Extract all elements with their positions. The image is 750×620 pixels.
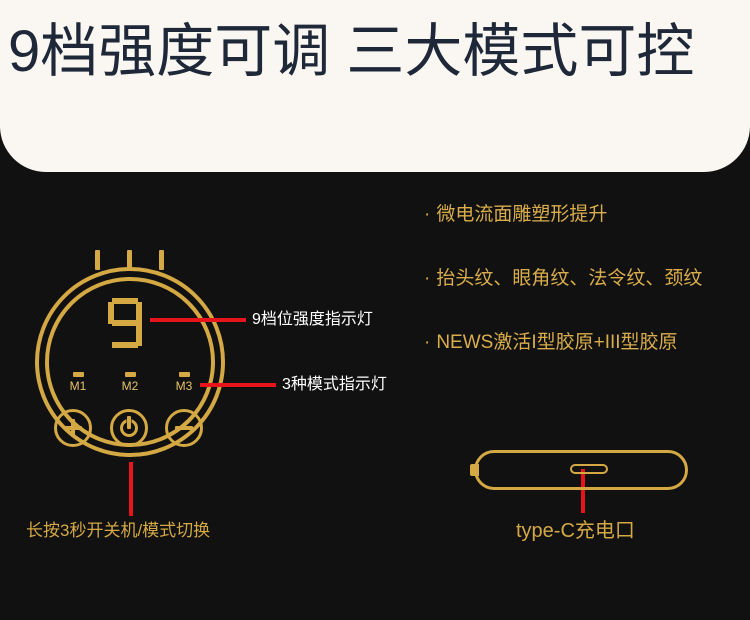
plus-button[interactable] bbox=[54, 409, 92, 447]
electrode-prong-icon bbox=[95, 250, 100, 270]
plus-icon bbox=[71, 419, 75, 437]
mode-dash-icon bbox=[125, 372, 136, 377]
segment-top bbox=[112, 298, 138, 304]
caption-typec-port: type-C充电口 bbox=[516, 520, 635, 542]
device-body-outline bbox=[474, 450, 688, 490]
page-title: 9档强度可调 三大模式可控 bbox=[8, 14, 750, 90]
mode-dash-icon bbox=[73, 372, 84, 377]
mode-indicator-m1: M1 bbox=[58, 372, 98, 393]
segment-bottom bbox=[112, 342, 138, 348]
annotation-mode-indicator: 3种模式指示灯 bbox=[282, 375, 387, 395]
minus-icon bbox=[175, 426, 193, 430]
annotation-intensity-indicator: 9档位强度指示灯 bbox=[252, 310, 373, 330]
bullet-dot-icon: · bbox=[424, 266, 430, 292]
bullet-dot-icon: · bbox=[424, 330, 430, 356]
electrode-prong-icon bbox=[159, 250, 164, 270]
bullet-text: NEWS激活I型胶原+III型胶原 bbox=[436, 330, 677, 356]
product-feature-panel: 9档强度可调 三大模式可控 M1 bbox=[0, 0, 750, 620]
caption-power-instruction: 长按3秒开关机/模式切换 bbox=[26, 520, 210, 542]
mode-label-m1: M1 bbox=[58, 380, 98, 393]
bullet-text: 微电流面雕塑形提升 bbox=[436, 202, 607, 228]
mode-indicator-row: M1 M2 M3 bbox=[58, 372, 204, 406]
list-item: · 抬头纹、眼角纹、法令纹、颈纹 bbox=[424, 266, 744, 292]
power-button[interactable] bbox=[110, 409, 148, 447]
feature-bullet-list: · 微电流面雕塑形提升 · 抬头纹、眼角纹、法令纹、颈纹 · NEWS激活I型胶… bbox=[424, 202, 744, 394]
mode-label-m3: M3 bbox=[164, 380, 204, 393]
mode-indicator-m3: M3 bbox=[164, 372, 204, 393]
mode-dash-icon bbox=[179, 372, 190, 377]
segment-middle bbox=[112, 320, 138, 326]
bullet-dot-icon: · bbox=[424, 202, 430, 228]
content-area: M1 M2 M3 bbox=[0, 172, 750, 620]
leader-line-intensity bbox=[150, 318, 246, 322]
list-item: · NEWS激活I型胶原+III型胶原 bbox=[424, 330, 744, 356]
header-banner: 9档强度可调 三大模式可控 bbox=[0, 0, 750, 172]
device-button-row bbox=[54, 409, 208, 451]
mode-indicator-m2: M2 bbox=[110, 372, 150, 393]
bullet-text: 抬头纹、眼角纹、法令纹、颈纹 bbox=[436, 266, 702, 292]
leader-line-mode bbox=[200, 383, 276, 387]
device-face-illustration: M1 M2 M3 bbox=[30, 262, 230, 462]
device-side-illustration bbox=[470, 450, 688, 492]
usb-c-port-icon bbox=[570, 464, 608, 474]
mode-label-m2: M2 bbox=[110, 380, 150, 393]
power-icon bbox=[127, 416, 131, 429]
intensity-level-display bbox=[108, 298, 142, 348]
list-item: · 微电流面雕塑形提升 bbox=[424, 202, 744, 228]
minus-button[interactable] bbox=[165, 409, 203, 447]
leader-line-power bbox=[129, 462, 133, 516]
